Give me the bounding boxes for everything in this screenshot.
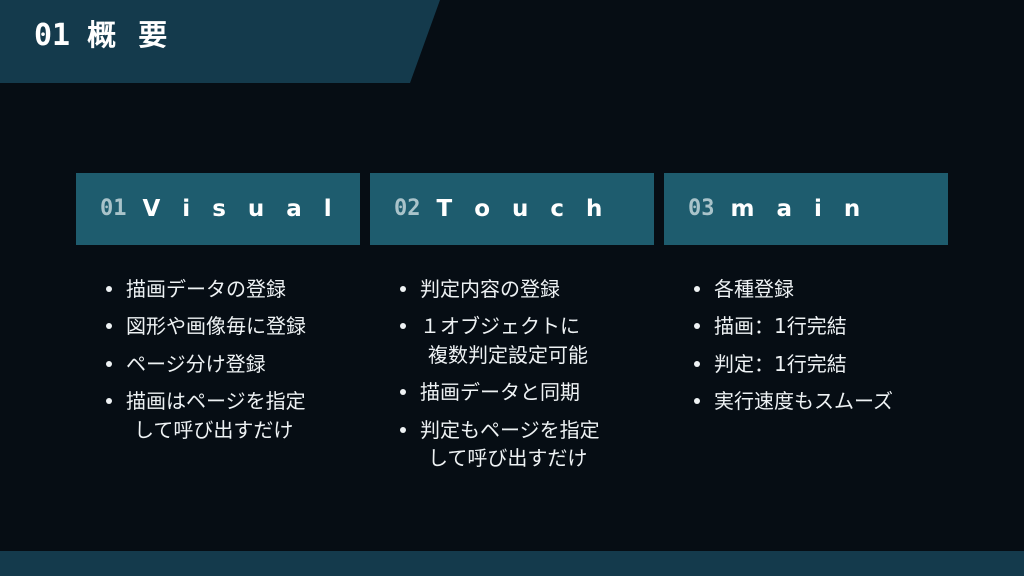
- page-title: 01 概 要: [34, 21, 173, 51]
- page-title-number: 01: [34, 21, 70, 51]
- list-item-line1: 描画はページを指定: [126, 389, 306, 413]
- list-item: 描画データの登録: [104, 275, 360, 303]
- list-item-line1: １オブジェクトに: [420, 314, 580, 338]
- card-label: V i s u a l: [143, 198, 339, 221]
- card-number: 03: [688, 198, 715, 220]
- list-item: ページ分け登録: [104, 350, 360, 378]
- bullet-list-main: 各種登録 描画：1行完結 判定：1行完結 実行速度もスムーズ: [664, 245, 948, 416]
- list-item: 描画データと同期: [398, 378, 654, 406]
- list-item: 判定もページを指定 して呼び出すだけ: [398, 416, 654, 473]
- list-item: 各種登録: [692, 275, 948, 303]
- list-item: １オブジェクトに 複数判定設定可能: [398, 312, 654, 369]
- card-label: T o u c h: [437, 198, 610, 221]
- list-item: 判定：1行完結: [692, 350, 948, 378]
- feature-column-touch: 02 T o u c h 判定内容の登録 １オブジェクトに 複数判定設定可能 描…: [370, 173, 654, 481]
- card-label: m a i n: [731, 198, 868, 221]
- bullet-list-visual: 描画データの登録 図形や画像毎に登録 ページ分け登録 描画はページを指定 して呼…: [76, 245, 360, 444]
- feature-column-visual: 01 V i s u a l 描画データの登録 図形や画像毎に登録 ページ分け登…: [76, 173, 360, 481]
- list-item-line2: して呼び出すだけ: [126, 416, 360, 444]
- list-item-line1: ページ分け登録: [126, 352, 266, 376]
- list-item-line1: 実行速度もスムーズ: [714, 389, 893, 413]
- list-item: 描画：1行完結: [692, 312, 948, 340]
- list-item-line1: 図形や画像毎に登録: [126, 314, 306, 338]
- bullet-list-touch: 判定内容の登録 １オブジェクトに 複数判定設定可能 描画データと同期 判定もペー…: [370, 245, 654, 472]
- card-header-touch: 02 T o u c h: [370, 173, 654, 245]
- card-number: 01: [100, 198, 127, 220]
- list-item-line1: 各種登録: [714, 277, 794, 301]
- list-item-line1: 描画データと同期: [420, 380, 580, 404]
- list-item-line1: 判定：1行完結: [714, 352, 847, 376]
- list-item-line1: 判定内容の登録: [420, 277, 560, 301]
- list-item-line1: 描画データの登録: [126, 277, 286, 301]
- feature-columns: 01 V i s u a l 描画データの登録 図形や画像毎に登録 ページ分け登…: [76, 173, 948, 481]
- card-number: 02: [394, 198, 421, 220]
- list-item-line2: して呼び出すだけ: [420, 444, 654, 472]
- list-item-line2: 複数判定設定可能: [420, 341, 654, 369]
- list-item-line1: 描画：1行完結: [714, 314, 847, 338]
- list-item: 描画はページを指定 して呼び出すだけ: [104, 387, 360, 444]
- list-item: 図形や画像毎に登録: [104, 312, 360, 340]
- footer-band: [0, 551, 1024, 576]
- page-title-text: 概 要: [87, 21, 173, 50]
- list-item: 実行速度もスムーズ: [692, 387, 948, 415]
- list-item: 判定内容の登録: [398, 275, 654, 303]
- slide-canvas: 01 概 要 01 V i s u a l 描画データの登録 図形や画像毎に登録…: [0, 0, 1024, 576]
- card-header-visual: 01 V i s u a l: [76, 173, 360, 245]
- list-item-line1: 判定もページを指定: [420, 418, 600, 442]
- card-header-main: 03 m a i n: [664, 173, 948, 245]
- feature-column-main: 03 m a i n 各種登録 描画：1行完結 判定：1行完結 実行速度もスムー…: [664, 173, 948, 481]
